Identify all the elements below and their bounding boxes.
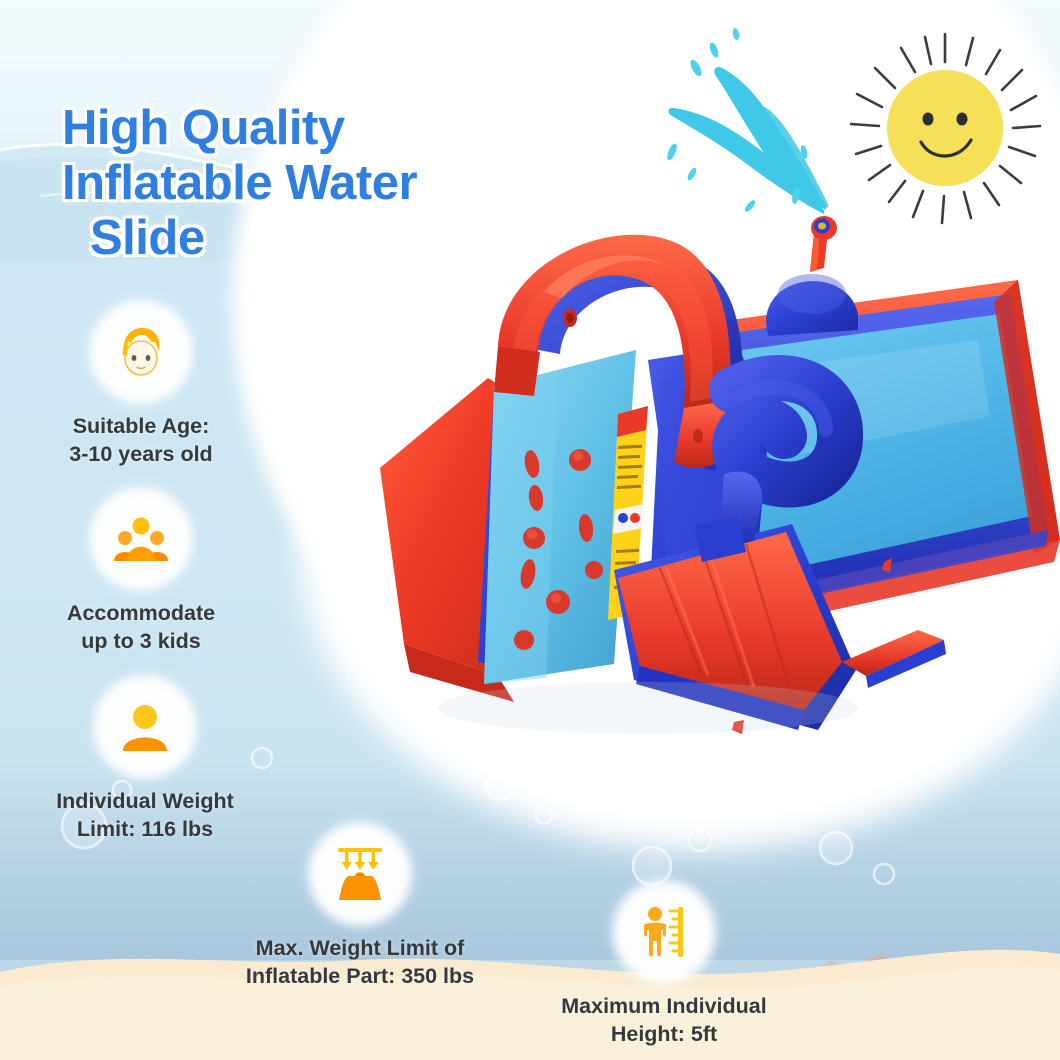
icon-container bbox=[308, 822, 412, 926]
product-infographic-poster: High QualityInflatable WaterSlide bbox=[0, 0, 1060, 1060]
feature-label: Suitable Age: 3-10 years old bbox=[16, 413, 266, 468]
feature-max-weight: Max. Weight Limit of Inflatable Part: 35… bbox=[224, 822, 496, 990]
inflatable-water-slide-product bbox=[318, 210, 1060, 770]
icon-container bbox=[93, 675, 197, 779]
child-face-icon bbox=[111, 322, 171, 382]
feature-suitable-age: Suitable Age: 3-10 years old bbox=[16, 300, 266, 468]
feature-accommodate: Accommodate up to 3 kids bbox=[16, 487, 266, 655]
feature-max-height: Maximum Individual Height: 5ft bbox=[528, 880, 800, 1048]
load-weight-icon bbox=[330, 844, 390, 904]
group-people-icon bbox=[111, 509, 171, 569]
blue-tunnel bbox=[732, 378, 840, 485]
feature-individual-weight: Individual Weight Limit: 116 lbs bbox=[10, 675, 280, 843]
icon-container bbox=[89, 487, 193, 591]
feature-label: Max. Weight Limit of Inflatable Part: 35… bbox=[224, 935, 496, 990]
feature-label: Maximum Individual Height: 5ft bbox=[528, 993, 800, 1048]
water-spray-icon bbox=[648, 20, 898, 230]
title-line-1: High Quality bbox=[62, 101, 345, 155]
icon-container bbox=[612, 880, 716, 984]
feature-label: Accommodate up to 3 kids bbox=[16, 600, 266, 655]
sprinkler-dome bbox=[766, 216, 858, 336]
title-line-2: Inflatable Water bbox=[62, 156, 417, 210]
person-icon bbox=[115, 697, 175, 757]
height-ruler-icon bbox=[634, 902, 694, 962]
icon-container bbox=[89, 300, 193, 404]
